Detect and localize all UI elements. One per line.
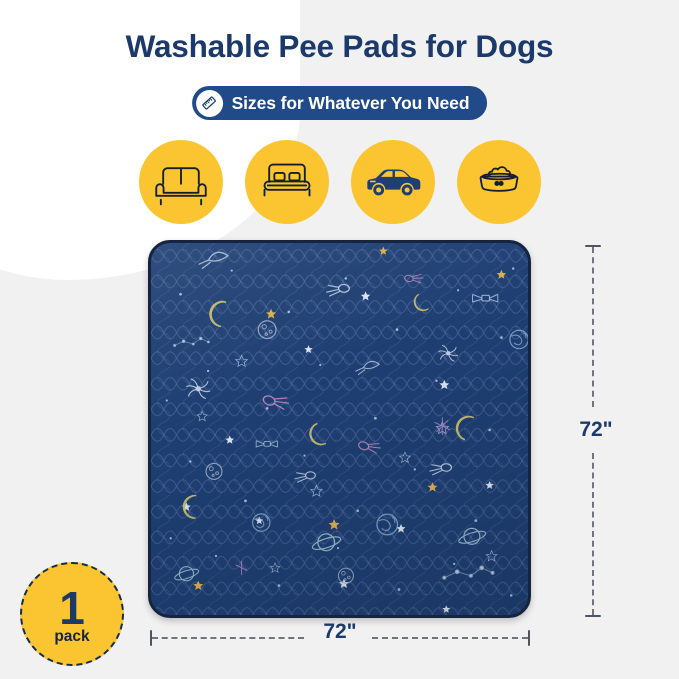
bed-icon: [257, 150, 317, 215]
use-case-dog-bowl: [457, 140, 541, 224]
pad-sheen-overlay: [151, 243, 528, 615]
ruler-icon: [196, 90, 223, 117]
sizes-badge-label: Sizes for Whatever You Need: [232, 93, 470, 114]
pack-count-number: 1: [59, 588, 85, 628]
use-case-bed: [245, 140, 329, 224]
sizes-badge: Sizes for Whatever You Need: [192, 86, 488, 120]
car-icon: [362, 149, 424, 216]
pack-count-badge: 1 pack: [20, 562, 124, 666]
use-case-car: [351, 140, 435, 224]
dog-bowl-icon: [470, 151, 528, 214]
height-dimension-label: 72": [566, 418, 626, 442]
infographic-canvas: Washable Pee Pads for Dogs Sizes for Wha…: [0, 0, 679, 679]
use-case-sofa: [139, 140, 223, 224]
page-title: Washable Pee Pads for Dogs: [0, 28, 679, 65]
width-dimension-label: 72": [310, 620, 370, 644]
sofa-icon: [151, 150, 211, 215]
product-image: [148, 240, 531, 618]
pee-pad: [148, 240, 531, 618]
pack-count-word: pack: [54, 629, 89, 645]
use-case-icon-row: [0, 140, 679, 224]
